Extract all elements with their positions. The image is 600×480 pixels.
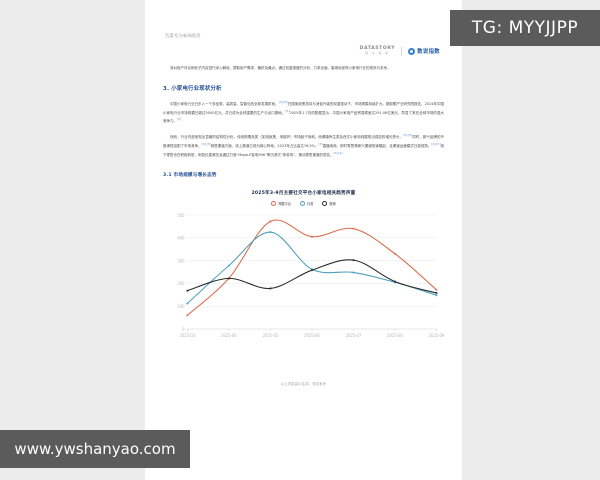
data-point[interactable] bbox=[187, 315, 189, 317]
series-line-0 bbox=[187, 220, 436, 315]
data-point[interactable] bbox=[187, 303, 189, 305]
data-point[interactable] bbox=[270, 221, 272, 223]
p2-ref-4[interactable]: [4],[5] bbox=[431, 142, 440, 146]
data-point[interactable] bbox=[436, 295, 438, 297]
legend-label: 抖音 bbox=[307, 201, 313, 206]
data-point[interactable] bbox=[353, 260, 355, 262]
datastory-logo-sub: 数 说 故 事 bbox=[365, 53, 389, 56]
x-tick-label: 2025-03 bbox=[180, 333, 196, 338]
p2-ref-2[interactable]: [4],[5] bbox=[202, 142, 211, 146]
x-tick-label: 2025-05 bbox=[263, 333, 279, 338]
legend-item-0[interactable]: 神醒平台 bbox=[271, 201, 291, 206]
data-point[interactable] bbox=[394, 253, 396, 255]
data-point[interactable] bbox=[311, 236, 313, 238]
shushuo-index-logo: 数说指数 bbox=[408, 47, 440, 55]
data-point[interactable] bbox=[353, 272, 355, 274]
y-tick-label: 100 bbox=[177, 304, 185, 309]
p2-ref-1[interactable]: [3],[5] bbox=[403, 133, 412, 137]
data-point[interactable] bbox=[270, 288, 272, 290]
intro-paragraph: 深对用户评论和帖子内容进行深入解读，提取用户需求、偏好及痛点。通过双重维度的分析… bbox=[163, 65, 444, 72]
data-point[interactable] bbox=[394, 281, 396, 283]
legend-label: 神醒平台 bbox=[278, 201, 291, 206]
legend-marker-icon bbox=[322, 201, 327, 206]
shushuo-index-label: 数说指数 bbox=[417, 47, 440, 55]
y-tick-label: 200 bbox=[177, 281, 185, 286]
y-tick-label: 400 bbox=[177, 236, 185, 241]
data-point[interactable] bbox=[228, 278, 230, 280]
circle-badge-icon bbox=[408, 48, 415, 55]
data-point[interactable] bbox=[270, 231, 272, 233]
legend-item-2[interactable]: 微博 bbox=[322, 201, 335, 206]
series-line-1 bbox=[187, 232, 436, 303]
p2-text-4: 直播电商、即时零售等新兴渠道快速崛起，全渠道运营模式日趋成熟。 bbox=[323, 144, 432, 148]
x-tick-label: 2025-07 bbox=[346, 333, 362, 338]
datastory-logo: DATASTORY 数 说 故 事 bbox=[360, 47, 396, 55]
chart-legend: 神醒平台抖音微博 bbox=[163, 201, 444, 206]
section-3-1-heading: 3.1 市场规模与增长态势 bbox=[163, 172, 450, 178]
document-page: 百度号与新闻首页 DATASTORY 数 说 故 事 数说指数 深对用户评论和帖… bbox=[145, 0, 462, 480]
data-point[interactable] bbox=[353, 228, 355, 230]
p1-ref-3[interactable]: [5] bbox=[177, 117, 181, 121]
logo-divider bbox=[401, 47, 402, 56]
data-point[interactable] bbox=[187, 290, 189, 292]
section-3-heading: 3. 小家电行业现状分析 bbox=[163, 84, 450, 92]
p2-text-1: 然而，行业内部呈现出显著的结构性分化。传统刚需品类（如电饭煲、电磁炉）市场趋于饱… bbox=[170, 135, 403, 139]
chart-card: 2025年3-9月主要社交平台小家电相关趋势声量 神醒平台抖音微博 010020… bbox=[161, 186, 446, 355]
p1-text-1: 中国小家电行业已步入一个多品类、高质量、智能化的全新发展阶段。 bbox=[170, 102, 279, 106]
legend-item-1[interactable]: 抖音 bbox=[300, 201, 313, 206]
data-point[interactable] bbox=[436, 292, 438, 294]
x-tick-label: 2025-04 bbox=[221, 333, 237, 338]
document-body: 百度号与新闻首页 DATASTORY 数 说 故 事 数说指数 深对用户评论和帖… bbox=[145, 0, 462, 386]
x-tick-label: 2025-09 bbox=[429, 333, 444, 338]
x-tick-label: 2025-06 bbox=[304, 333, 320, 338]
chart-plot: 01002003004005002025-032025-042025-05202… bbox=[163, 209, 444, 349]
document-header-note: 百度号与新闻首页 bbox=[157, 0, 450, 38]
tg-watermark-tag: TG: MYYJJPP bbox=[450, 10, 600, 46]
p1-ref-1[interactable]: [3],[5] bbox=[279, 100, 288, 104]
y-tick-label: 0 bbox=[182, 327, 185, 332]
data-point[interactable] bbox=[228, 265, 230, 267]
site-watermark-tag: www.ywshanyao.com bbox=[0, 430, 190, 468]
section-3-paragraph-1: 中国小家电行业已步入一个多品类、高质量、智能化的全新发展阶段。[3],[5]在国… bbox=[163, 99, 444, 125]
line-chart-svg: 01002003004005002025-032025-042025-05202… bbox=[163, 209, 444, 349]
section-3-paragraph-2: 然而，行业内部呈现出显著的结构性分化。传统刚需品类（如电饭煲、电磁炉）市场趋于饱… bbox=[163, 132, 444, 158]
y-tick-label: 300 bbox=[177, 259, 185, 264]
p2-ref-5[interactable]: [3],[4] bbox=[333, 151, 342, 155]
logo-row: DATASTORY 数 说 故 事 数说指数 bbox=[157, 38, 450, 58]
legend-marker-icon bbox=[271, 201, 276, 206]
ai-disclaimer: 以上内容由AI生成，仅供参考 bbox=[157, 381, 450, 386]
series-line-2 bbox=[187, 260, 436, 293]
x-tick-label: 2025-08 bbox=[387, 333, 403, 338]
data-point[interactable] bbox=[311, 270, 313, 272]
datastory-logo-main: DATASTORY bbox=[360, 47, 396, 52]
data-point[interactable] bbox=[436, 289, 438, 291]
chart-title: 2025年3-9月主要社交平台小家电相关趋势声量 bbox=[163, 190, 444, 196]
legend-marker-icon bbox=[300, 201, 305, 206]
y-tick-label: 500 bbox=[177, 213, 185, 218]
p2-text-3: 销售渠道方面，线上渠道已成为核心阵地，2023年占比高达76.9%。 bbox=[211, 144, 319, 148]
legend-label: 微博 bbox=[329, 201, 335, 206]
